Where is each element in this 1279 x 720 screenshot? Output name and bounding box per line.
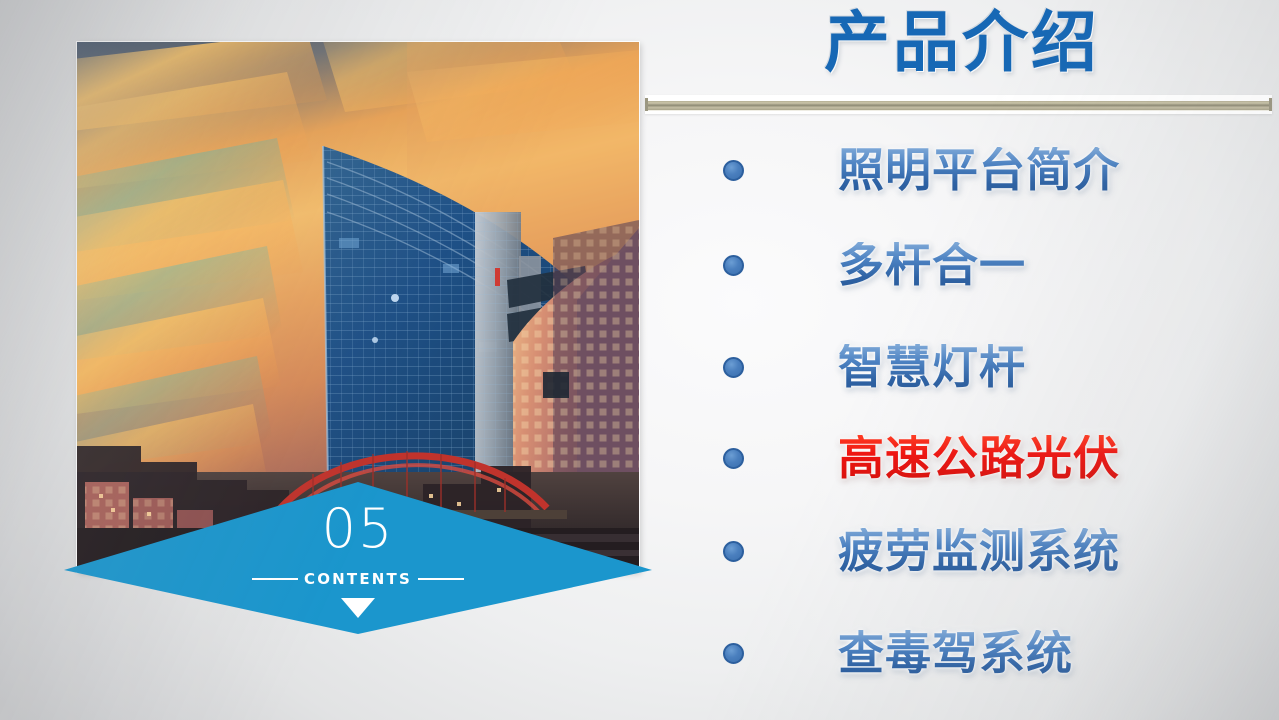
list-item[interactable]: 照明平台简介: [650, 130, 1279, 210]
contents-rule-right: [418, 578, 464, 580]
list-item[interactable]: 高速公路光伏: [650, 418, 1279, 498]
cityscape-photo: [77, 42, 639, 572]
list-item-label: 智慧灯杆: [838, 344, 1026, 390]
list-item[interactable]: 疲劳监测系统: [650, 511, 1279, 591]
contents-number: 05: [64, 502, 652, 556]
list-item-label: 高速公路光伏: [838, 435, 1120, 481]
slide-canvas: 05 CONTENTS 产品介绍 照明平台简介 多杆合一 智慧灯杆 高速公路: [0, 0, 1279, 720]
list-item-label: 照明平台简介: [838, 147, 1120, 193]
bullet-dot-icon: [723, 255, 744, 276]
page-title: 产品介绍: [650, 4, 1274, 82]
triangle-down-icon: [64, 598, 652, 618]
bullet-dot-icon: [723, 448, 744, 469]
list-item-label: 多杆合一: [838, 242, 1026, 288]
divider-bar: [648, 100, 1269, 111]
list-item-label: 疲劳监测系统: [838, 528, 1120, 574]
topic-list: 照明平台简介 多杆合一 智慧灯杆 高速公路光伏 疲劳监测系统 查毒驾系统: [650, 130, 1279, 712]
bullet-dot-icon: [723, 541, 744, 562]
divider-cap-right: [1269, 98, 1272, 111]
list-item-label: 查毒驾系统: [838, 630, 1073, 676]
list-item[interactable]: 查毒驾系统: [650, 613, 1279, 693]
title-divider: [645, 95, 1272, 114]
bullet-dot-icon: [723, 357, 744, 378]
list-item[interactable]: 多杆合一: [650, 225, 1279, 305]
bullet-dot-icon: [723, 160, 744, 181]
list-item[interactable]: 智慧灯杆: [650, 327, 1279, 407]
contents-label: CONTENTS: [304, 570, 412, 588]
contents-rule-left: [252, 578, 298, 580]
bullet-dot-icon: [723, 643, 744, 664]
contents-label-group: CONTENTS: [64, 570, 652, 588]
